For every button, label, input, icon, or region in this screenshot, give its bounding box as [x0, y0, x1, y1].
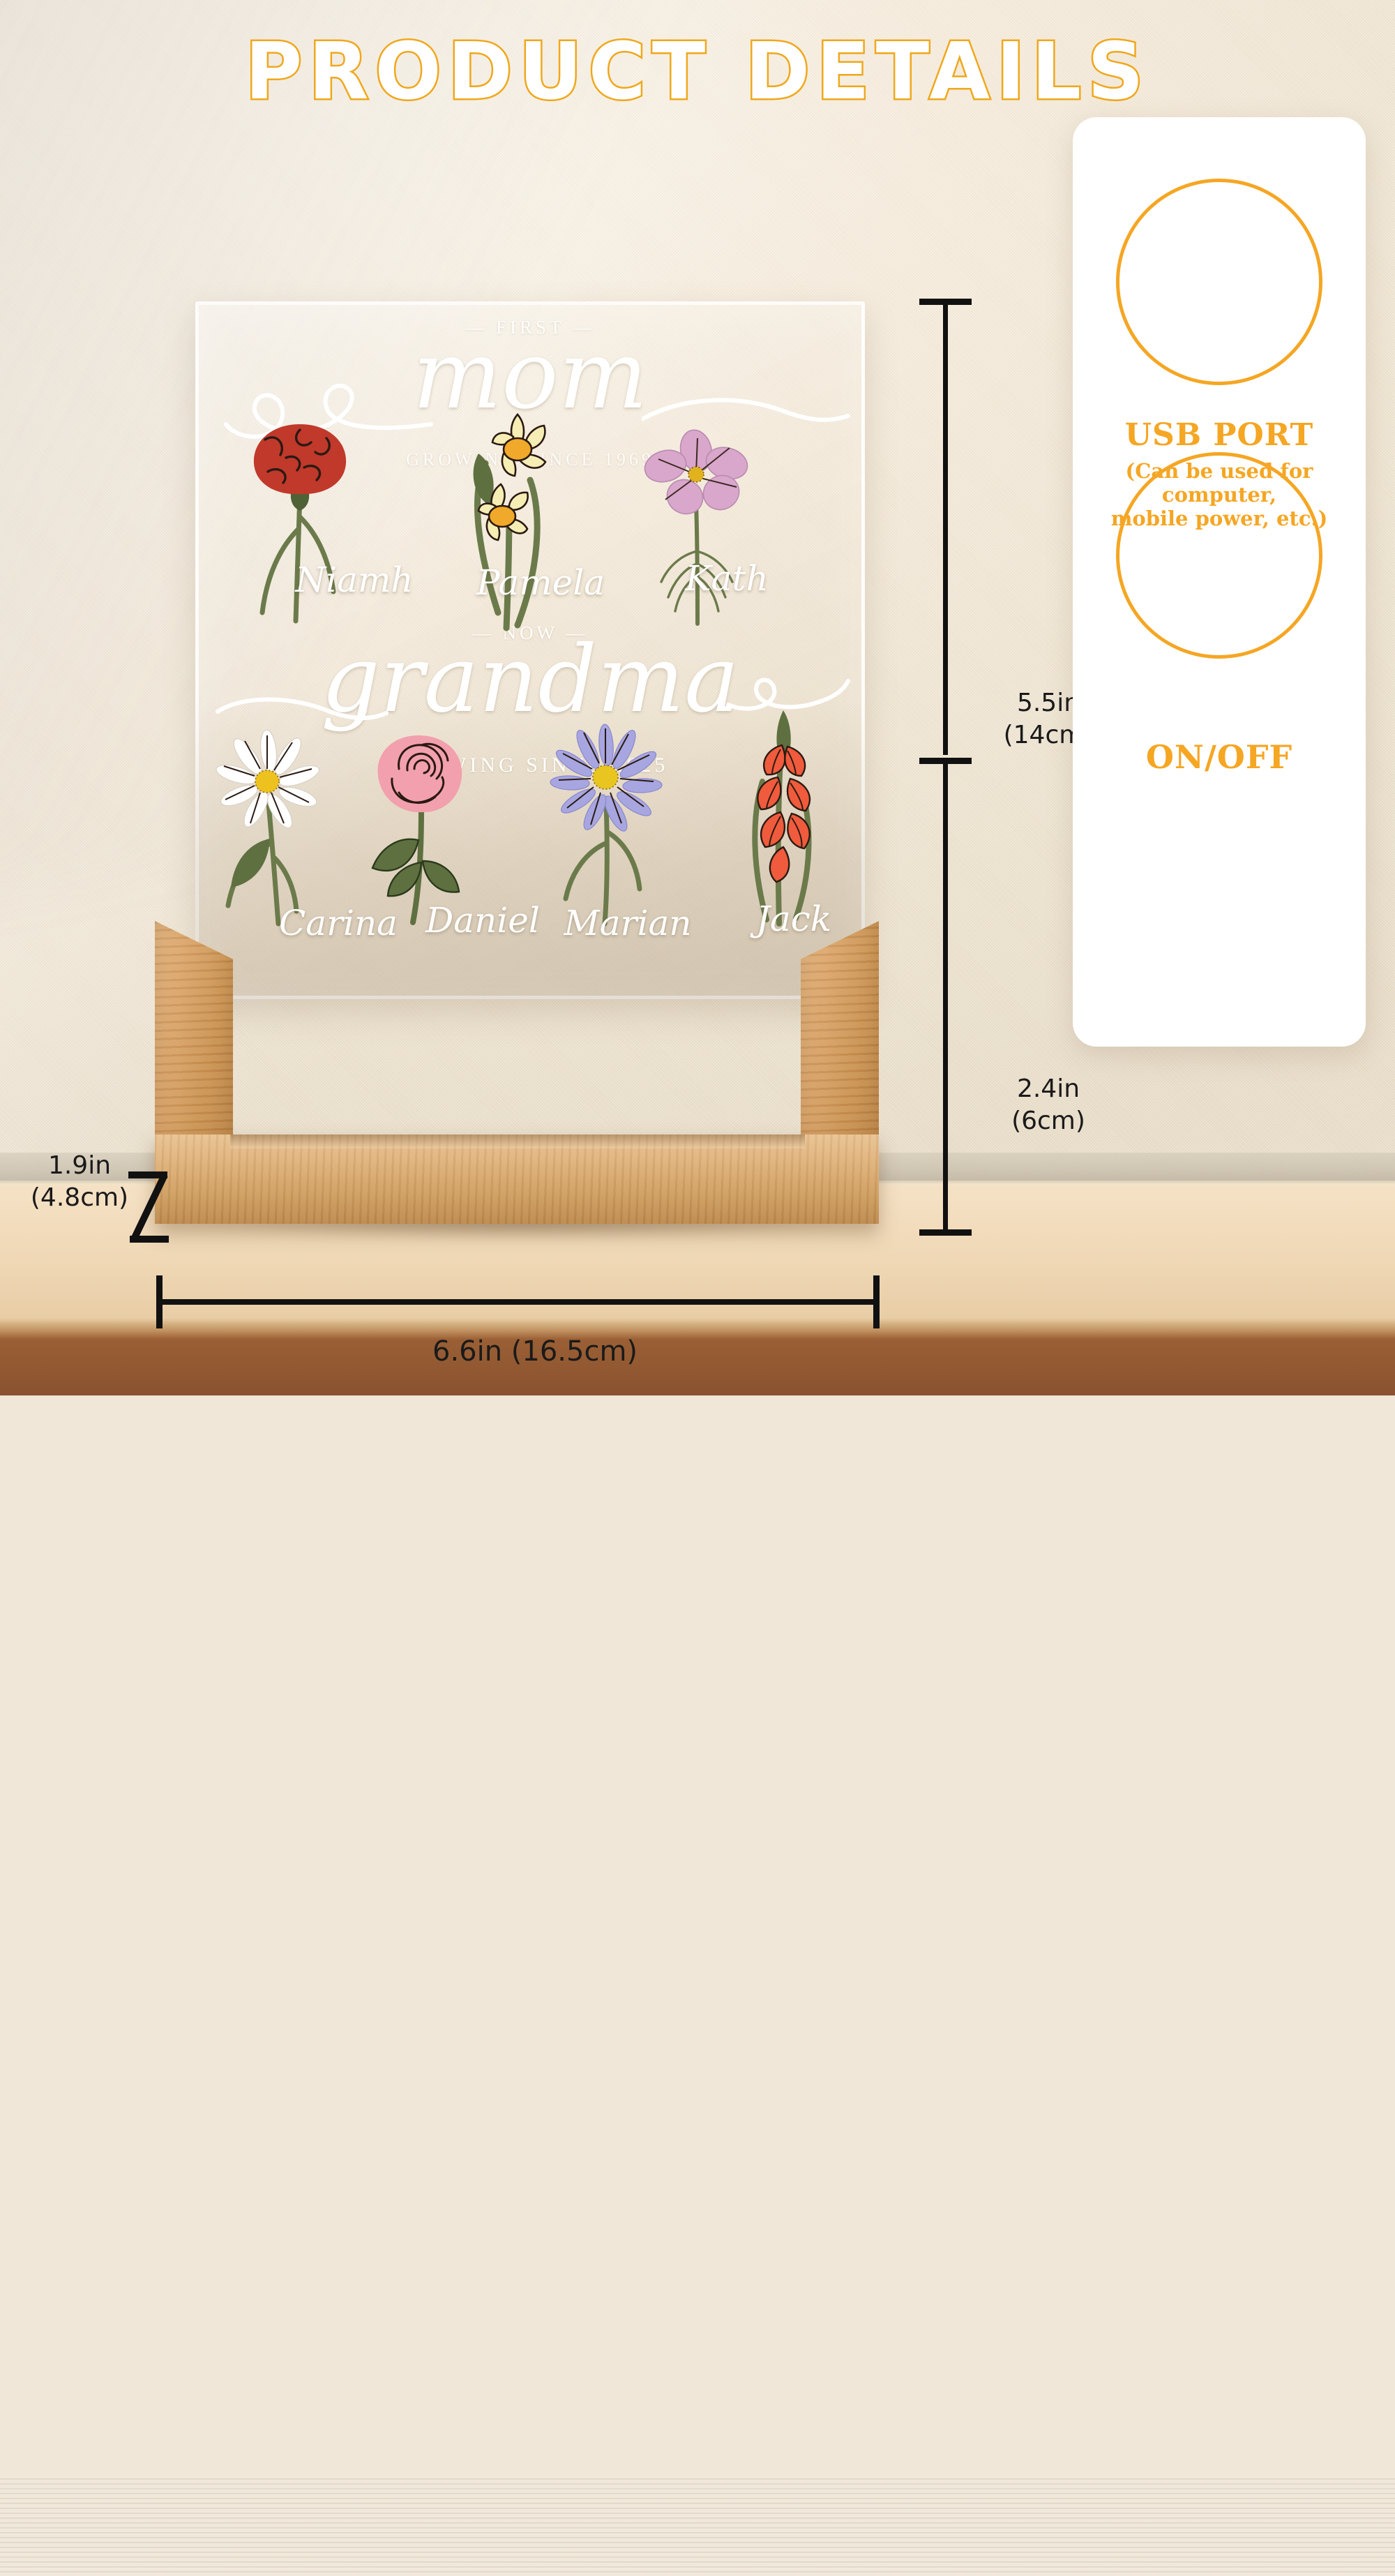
stand-height-dim-label: 2.4in (6cm) [975, 1073, 1122, 1137]
name-daniel: Daniel [425, 900, 540, 941]
depth-dim-label: 1.9in (4.8cm) [10, 1150, 149, 1214]
flower-rose [349, 717, 488, 930]
acrylic-plaque: — FIRST — mom GROWING SINCE 1969 — NOW —… [195, 301, 865, 999]
height-inches: 5.5in [1017, 689, 1080, 717]
name-marian: Marian [564, 903, 692, 943]
flower-daisy [206, 726, 338, 931]
width-dim-label: 6.6in (16.5cm) [432, 1334, 614, 1370]
plaque-content: — FIRST — mom GROWING SINCE 1969 — NOW —… [195, 301, 865, 999]
name-niamh: Niamh [295, 560, 413, 600]
depth-inches: 1.9in [48, 1151, 111, 1180]
on-off-heading: ON/OFF [1073, 738, 1366, 776]
height-dim-line [943, 301, 948, 755]
stand-height-inches: 2.4in [1017, 1074, 1080, 1103]
name-jack: Jack [756, 899, 831, 939]
page-title: PRODUCT DETAILS [0, 29, 1395, 115]
stand-height-dim-line [943, 761, 948, 1235]
stand-height-dim-cap-mid [919, 758, 972, 764]
height-dim-cap-top [919, 299, 972, 305]
width-dim-line [159, 1299, 879, 1305]
flower-cosmos [635, 427, 760, 633]
stand-height-dim-cap-bottom [919, 1229, 972, 1236]
usb-port-heading: USB PORT [1073, 417, 1366, 453]
name-carina: Carina [279, 903, 398, 943]
flower-aster [541, 720, 673, 933]
depth-cm: (4.8cm) [31, 1183, 128, 1212]
name-kath: Kath [685, 558, 768, 599]
width-dim-cap-right [873, 1275, 880, 1328]
switch-circle-frame [1116, 452, 1322, 659]
features-card: USB PORT (Can be used for computer, mobi… [1073, 117, 1366, 1047]
name-pamela: Pamela [476, 562, 605, 603]
stand-groove [230, 1135, 805, 1148]
width-dim-cap-left [156, 1275, 163, 1328]
desk-grain [0, 2478, 1395, 2576]
product-details-canvas: PRODUCT DETAILS — FIRST — mom GROWING SI… [0, 0, 1395, 1395]
stand-height-cm: (6cm) [1011, 1107, 1085, 1135]
usb-circle-frame [1116, 179, 1322, 385]
